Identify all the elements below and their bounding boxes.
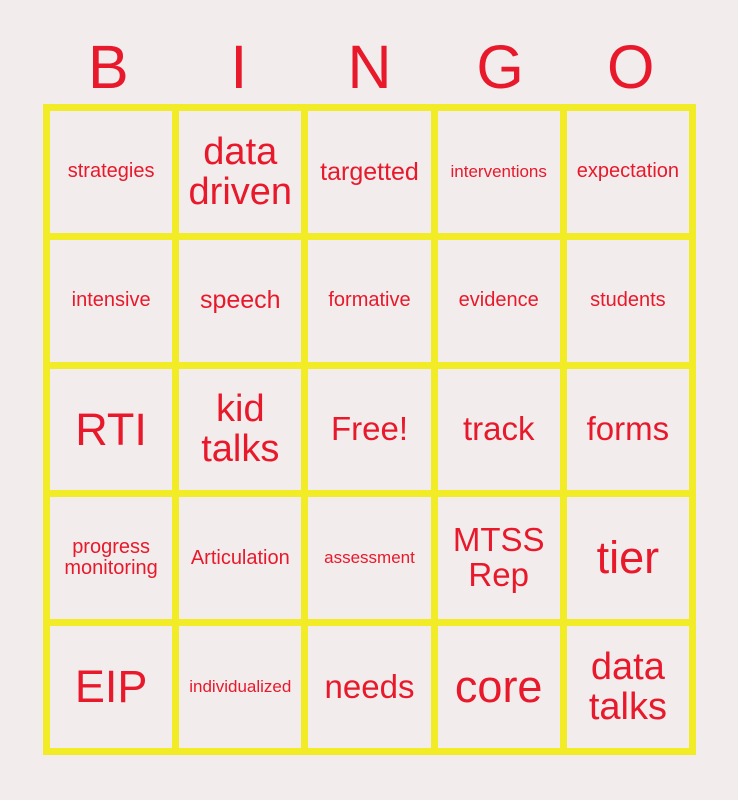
- bingo-grid: strategies data driven targetted interve…: [43, 104, 696, 755]
- bingo-cell-label: MTSS Rep: [441, 523, 557, 593]
- bingo-cell-o2[interactable]: students: [567, 240, 689, 362]
- bingo-cell-label: targetted: [311, 159, 427, 186]
- bingo-cell-n2[interactable]: formative: [308, 240, 430, 362]
- bingo-cell-b2[interactable]: intensive: [50, 240, 172, 362]
- bingo-cell-g2[interactable]: evidence: [438, 240, 560, 362]
- bingo-cell-label: data driven: [182, 132, 298, 213]
- header-letter-i: I: [174, 33, 305, 101]
- bingo-cell-label: speech: [182, 287, 298, 314]
- bingo-cell-i3[interactable]: kid talks: [179, 369, 301, 491]
- bingo-cell-n5[interactable]: needs: [308, 626, 430, 748]
- bingo-cell-n4[interactable]: assessment: [308, 497, 430, 619]
- bingo-cell-label: individualized: [182, 678, 298, 696]
- header-letter-o: O: [565, 33, 696, 101]
- bingo-cell-g5[interactable]: core: [438, 626, 560, 748]
- bingo-cell-label: progress monitoring: [53, 537, 169, 579]
- bingo-header: B I N G O: [43, 33, 696, 101]
- bingo-cell-o4[interactable]: tier: [567, 497, 689, 619]
- bingo-cell-i5[interactable]: individualized: [179, 626, 301, 748]
- bingo-cell-b3[interactable]: RTI: [50, 369, 172, 491]
- bingo-cell-label: data talks: [570, 647, 686, 728]
- bingo-cell-g4[interactable]: MTSS Rep: [438, 497, 560, 619]
- bingo-cell-o5[interactable]: data talks: [567, 626, 689, 748]
- bingo-cell-free-space[interactable]: Free!: [308, 369, 430, 491]
- bingo-cell-label: intensive: [53, 290, 169, 311]
- bingo-cell-label: forms: [570, 412, 686, 447]
- bingo-cell-i4[interactable]: Articulation: [179, 497, 301, 619]
- bingo-cell-label: strategies: [53, 161, 169, 182]
- bingo-cell-b4[interactable]: progress monitoring: [50, 497, 172, 619]
- bingo-cell-label: needs: [311, 670, 427, 705]
- bingo-cell-label: expectation: [570, 161, 686, 182]
- bingo-cell-b1[interactable]: strategies: [50, 111, 172, 233]
- bingo-card: B I N G O strategies data driven targett…: [0, 0, 738, 800]
- bingo-cell-label: kid talks: [182, 389, 298, 470]
- bingo-cell-label: assessment: [311, 549, 427, 567]
- bingo-cell-label: tier: [570, 534, 686, 582]
- bingo-cell-label: core: [441, 663, 557, 711]
- bingo-cell-label: Articulation: [182, 548, 298, 569]
- bingo-cell-label: RTI: [53, 406, 169, 454]
- bingo-cell-label: Free!: [311, 412, 427, 447]
- bingo-cell-g3[interactable]: track: [438, 369, 560, 491]
- bingo-cell-label: formative: [311, 290, 427, 311]
- bingo-cell-label: evidence: [441, 290, 557, 311]
- bingo-cell-label: EIP: [53, 663, 169, 711]
- bingo-cell-i2[interactable]: speech: [179, 240, 301, 362]
- bingo-cell-g1[interactable]: interventions: [438, 111, 560, 233]
- bingo-cell-label: track: [441, 412, 557, 447]
- bingo-cell-n1[interactable]: targetted: [308, 111, 430, 233]
- header-letter-n: N: [304, 33, 435, 101]
- bingo-cell-o3[interactable]: forms: [567, 369, 689, 491]
- bingo-cell-label: interventions: [441, 163, 557, 181]
- bingo-cell-label: students: [570, 290, 686, 311]
- bingo-cell-o1[interactable]: expectation: [567, 111, 689, 233]
- bingo-cell-i1[interactable]: data driven: [179, 111, 301, 233]
- header-letter-g: G: [435, 33, 566, 101]
- bingo-cell-b5[interactable]: EIP: [50, 626, 172, 748]
- header-letter-b: B: [43, 33, 174, 101]
